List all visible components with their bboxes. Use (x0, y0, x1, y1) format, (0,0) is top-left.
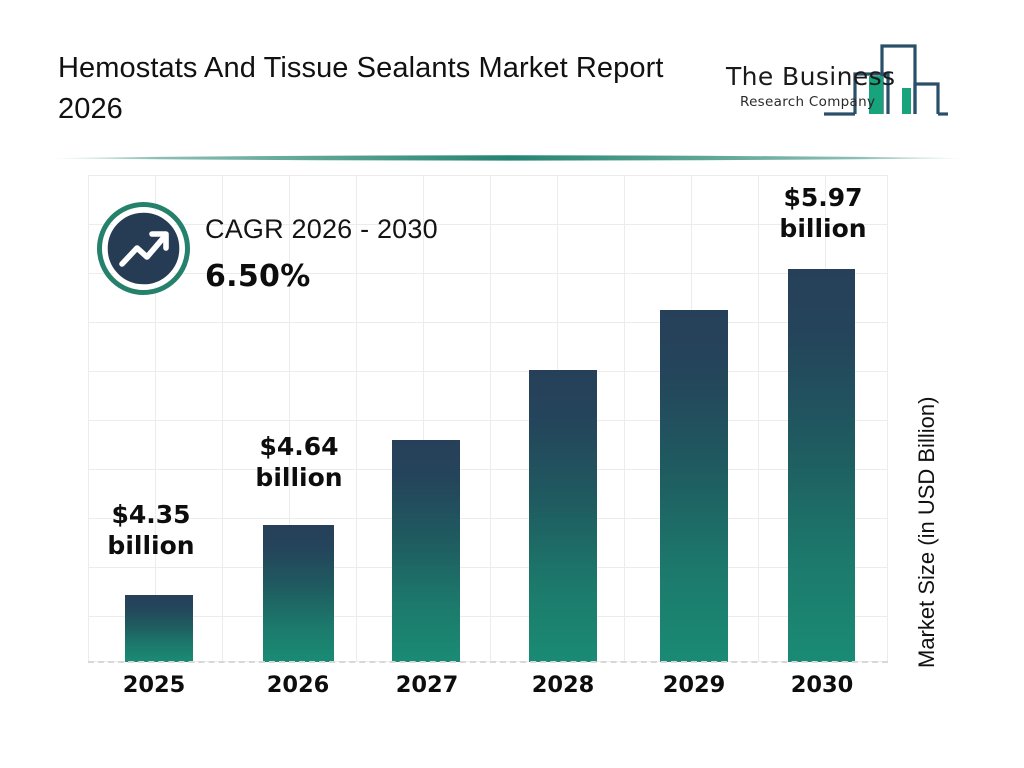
logo-text: The Business Research Company (726, 64, 904, 110)
bar-value-label-2026: $4.64 billion (236, 432, 362, 493)
bar-2026[interactable] (263, 525, 334, 662)
bar-2029[interactable] (660, 310, 728, 662)
cagr-text-block: CAGR 2026 - 2030 6.50% (205, 215, 438, 294)
bar-2027[interactable] (392, 440, 460, 662)
logo-line-1: The Business (726, 64, 904, 89)
bar-2025[interactable] (125, 595, 193, 662)
cagr-period-label: CAGR 2026 - 2030 (205, 215, 438, 245)
cagr-badge-icon (97, 202, 190, 295)
x-axis-label-2030: 2030 (772, 672, 872, 698)
page-title: Hemostats And Tissue Sealants Market Rep… (58, 48, 678, 130)
chart-page: Hemostats And Tissue Sealants Market Rep… (0, 0, 1024, 768)
logo-line-2: Research Company (740, 94, 904, 110)
bar-2030[interactable] (788, 269, 855, 662)
x-axis-label-2025: 2025 (104, 672, 204, 698)
cagr-value: 6.50% (205, 259, 438, 294)
bar-value-label-2030: $5.97 billion (760, 183, 886, 244)
bar-value-label-2025: $4.35 billion (90, 500, 212, 561)
x-axis-label-2026: 2026 (248, 672, 348, 698)
chart-baseline (88, 661, 888, 663)
header-divider (48, 152, 968, 164)
company-logo: The Business Research Company (716, 36, 968, 132)
y-axis-title: Market Size (in USD Billion) (914, 268, 940, 668)
x-axis-label-2029: 2029 (644, 672, 744, 698)
x-axis-label-2028: 2028 (513, 672, 613, 698)
x-axis-label-2027: 2027 (377, 672, 477, 698)
bar-2028[interactable] (529, 370, 597, 662)
